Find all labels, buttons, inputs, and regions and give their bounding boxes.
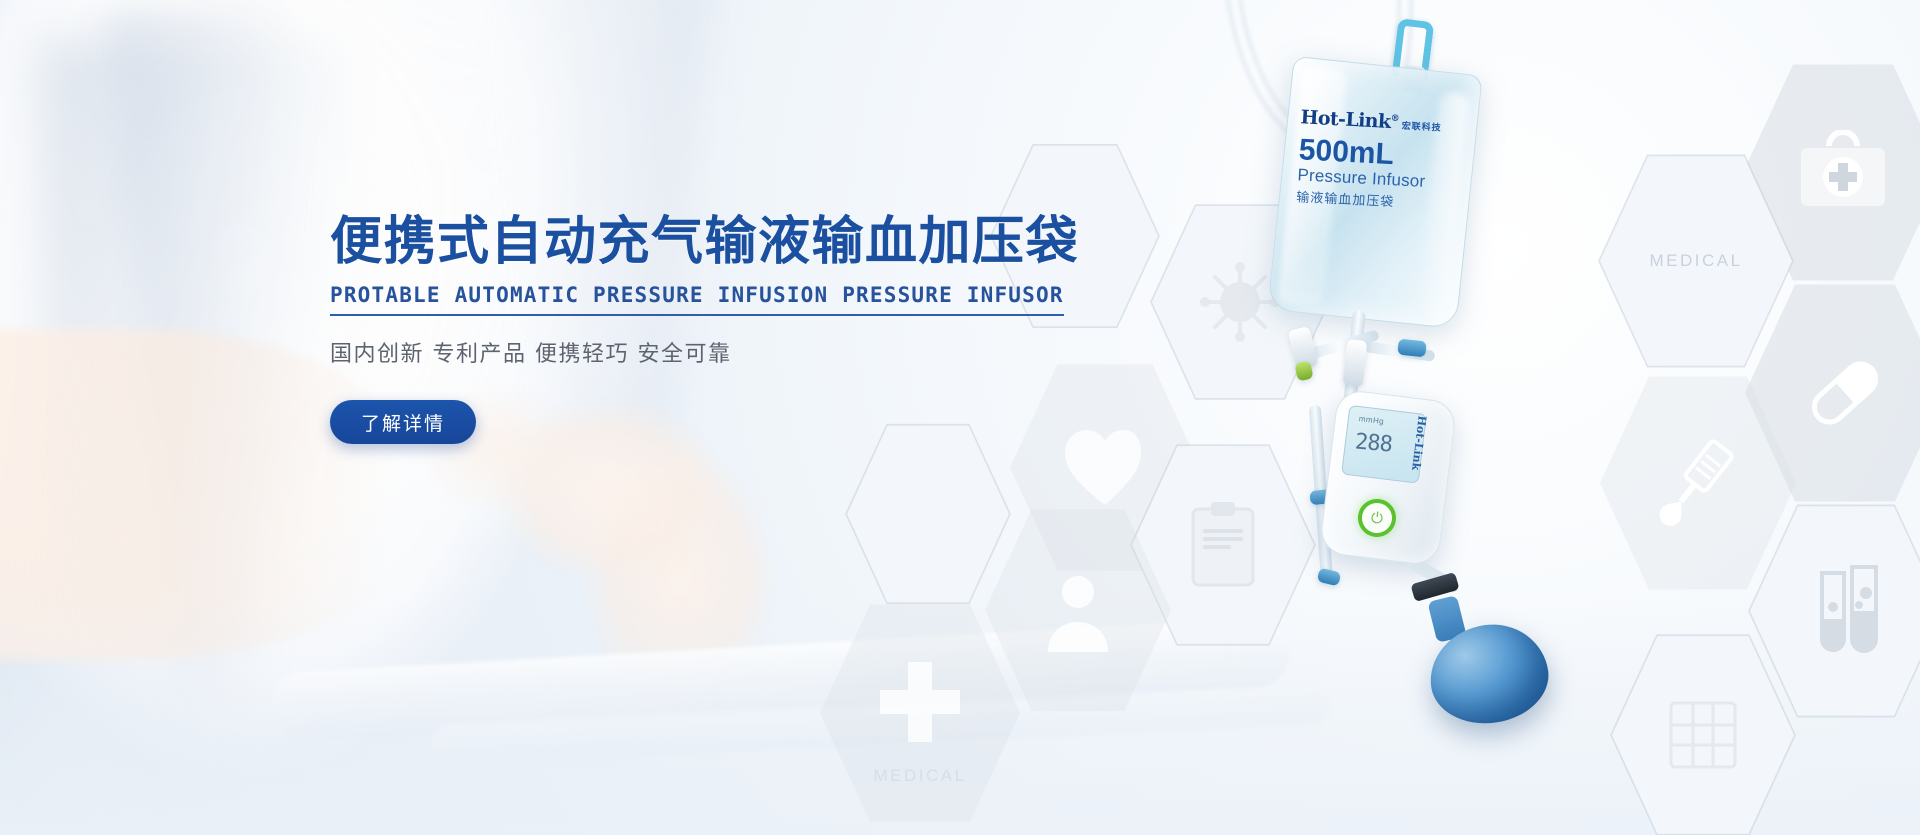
valve-blue-low: [1317, 568, 1342, 587]
bag-brand-cn: 宏联科技: [1401, 122, 1441, 134]
banner-copy: 便携式自动充气输液输血加压袋 PROTABLE AUTOMATIC PRESSU…: [330, 212, 1050, 444]
bag-label: Hot-Link®宏联科技 500mL Pressure Infusor 输液输…: [1296, 106, 1471, 213]
banner-tagline: 国内创新 专利产品 便携轻巧 安全可靠: [330, 336, 1050, 368]
hero-banner: MEDICAL: [0, 0, 1920, 835]
banner-subheadline: PROTABLE AUTOMATIC PRESSURE INFUSION PRE…: [330, 283, 1064, 316]
lcd-pressure-value: 288: [1354, 429, 1393, 457]
valve-blue-top: [1397, 339, 1427, 358]
power-button[interactable]: ⏻: [1356, 497, 1398, 539]
power-icon: ⏻: [1370, 510, 1384, 526]
pressure-pump-device: mmHg 288 Hot-Link ⏻: [1318, 388, 1457, 566]
banner-headline: 便携式自动充气输液输血加压袋: [330, 212, 1050, 273]
valve-center: [1343, 339, 1368, 387]
registered-mark: ®: [1390, 114, 1399, 124]
pressure-infusion-bag: Hot-Link®宏联科技 500mL Pressure Infusor 输液输…: [1267, 56, 1483, 329]
learn-more-button[interactable]: 了解详情: [330, 400, 476, 444]
product-photo: Hot-Link®宏联科技 500mL Pressure Infusor 输液输…: [1150, 10, 1670, 835]
lcd-unit-label: mmHg: [1358, 414, 1384, 426]
